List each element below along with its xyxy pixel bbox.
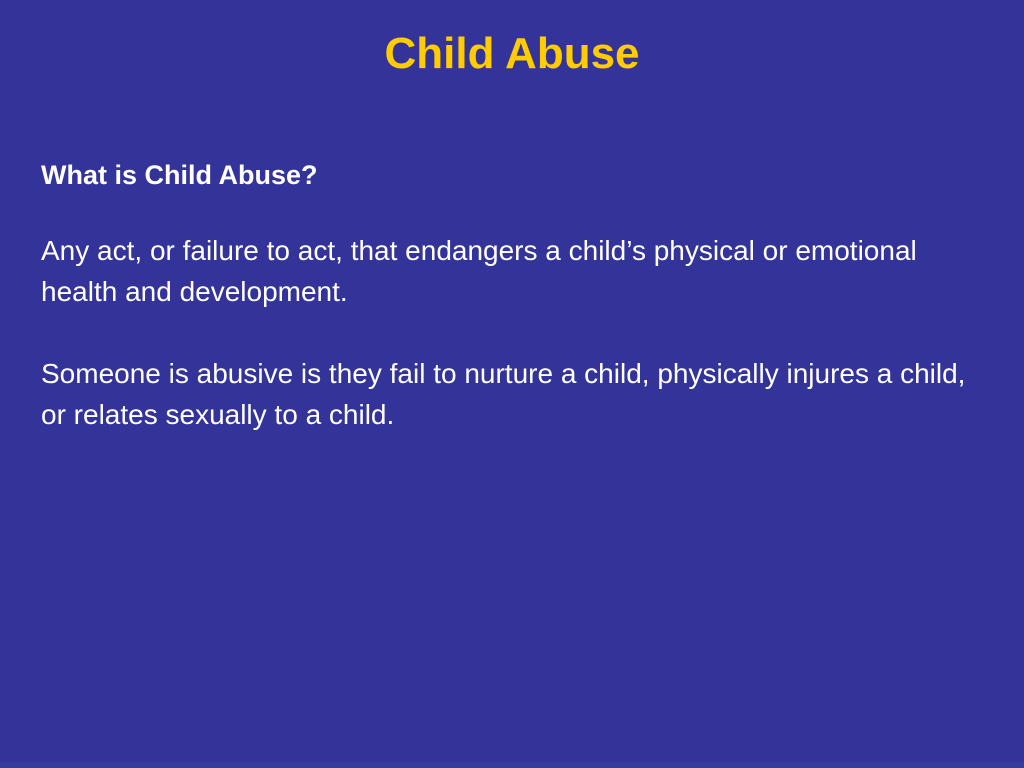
- slide-body: What is Child Abuse? Any act, or failure…: [41, 158, 971, 435]
- body-paragraph-2: Someone is abusive is they fail to nurtu…: [41, 353, 971, 435]
- body-heading: What is Child Abuse?: [41, 158, 971, 192]
- bottom-edge-band: [0, 762, 1024, 768]
- body-paragraph-1: Any act, or failure to act, that endange…: [41, 230, 971, 312]
- paragraph-spacer: [41, 192, 971, 230]
- slide: Child Abuse What is Child Abuse? Any act…: [0, 0, 1024, 768]
- page-title: Child Abuse: [0, 28, 1024, 80]
- paragraph-spacer: [41, 312, 971, 353]
